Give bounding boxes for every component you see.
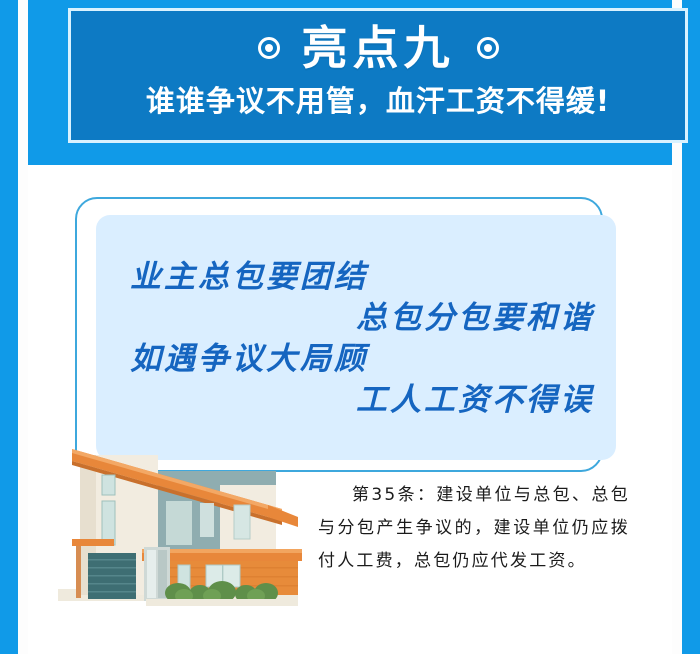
poster-root: 亮点九 谁谁争议不用管，血汗工资不得缓! 业主总包要团结 总包分包要和谐 如遇争… — [0, 0, 700, 654]
header-box: 亮点九 谁谁争议不用管，血汗工资不得缓! — [68, 8, 688, 143]
title-row: 亮点九 — [71, 17, 685, 79]
concentric-circle-icon-right — [477, 37, 499, 59]
header-subtitle: 谁谁争议不用管，血汗工资不得缓! — [71, 85, 685, 118]
left-margin-gap — [18, 0, 28, 654]
clause-paragraph: 第35条：建设单位与总包、总包与分包产生争议的，建设单位仍应拨付人工费，总包仍应… — [318, 479, 630, 578]
quote-line-2: 总包分包要和谐 — [120, 298, 600, 339]
body-area: 业主总包要团结 总包分包要和谐 如遇争议大局顾 工人工资不得误 — [28, 165, 672, 654]
header-bottom-strip — [28, 155, 672, 165]
house-illustration — [50, 413, 320, 608]
concentric-circle-icon-left — [258, 37, 280, 59]
quote-line-1: 业主总包要团结 — [120, 257, 600, 298]
page-title: 亮点九 — [302, 25, 455, 71]
header-band: 亮点九 谁谁争议不用管，血汗工资不得缓! — [28, 0, 672, 155]
bottom-white-margin — [28, 632, 672, 654]
quote-line-3: 如遇争议大局顾 — [120, 339, 600, 380]
left-blue-rail — [0, 0, 18, 654]
